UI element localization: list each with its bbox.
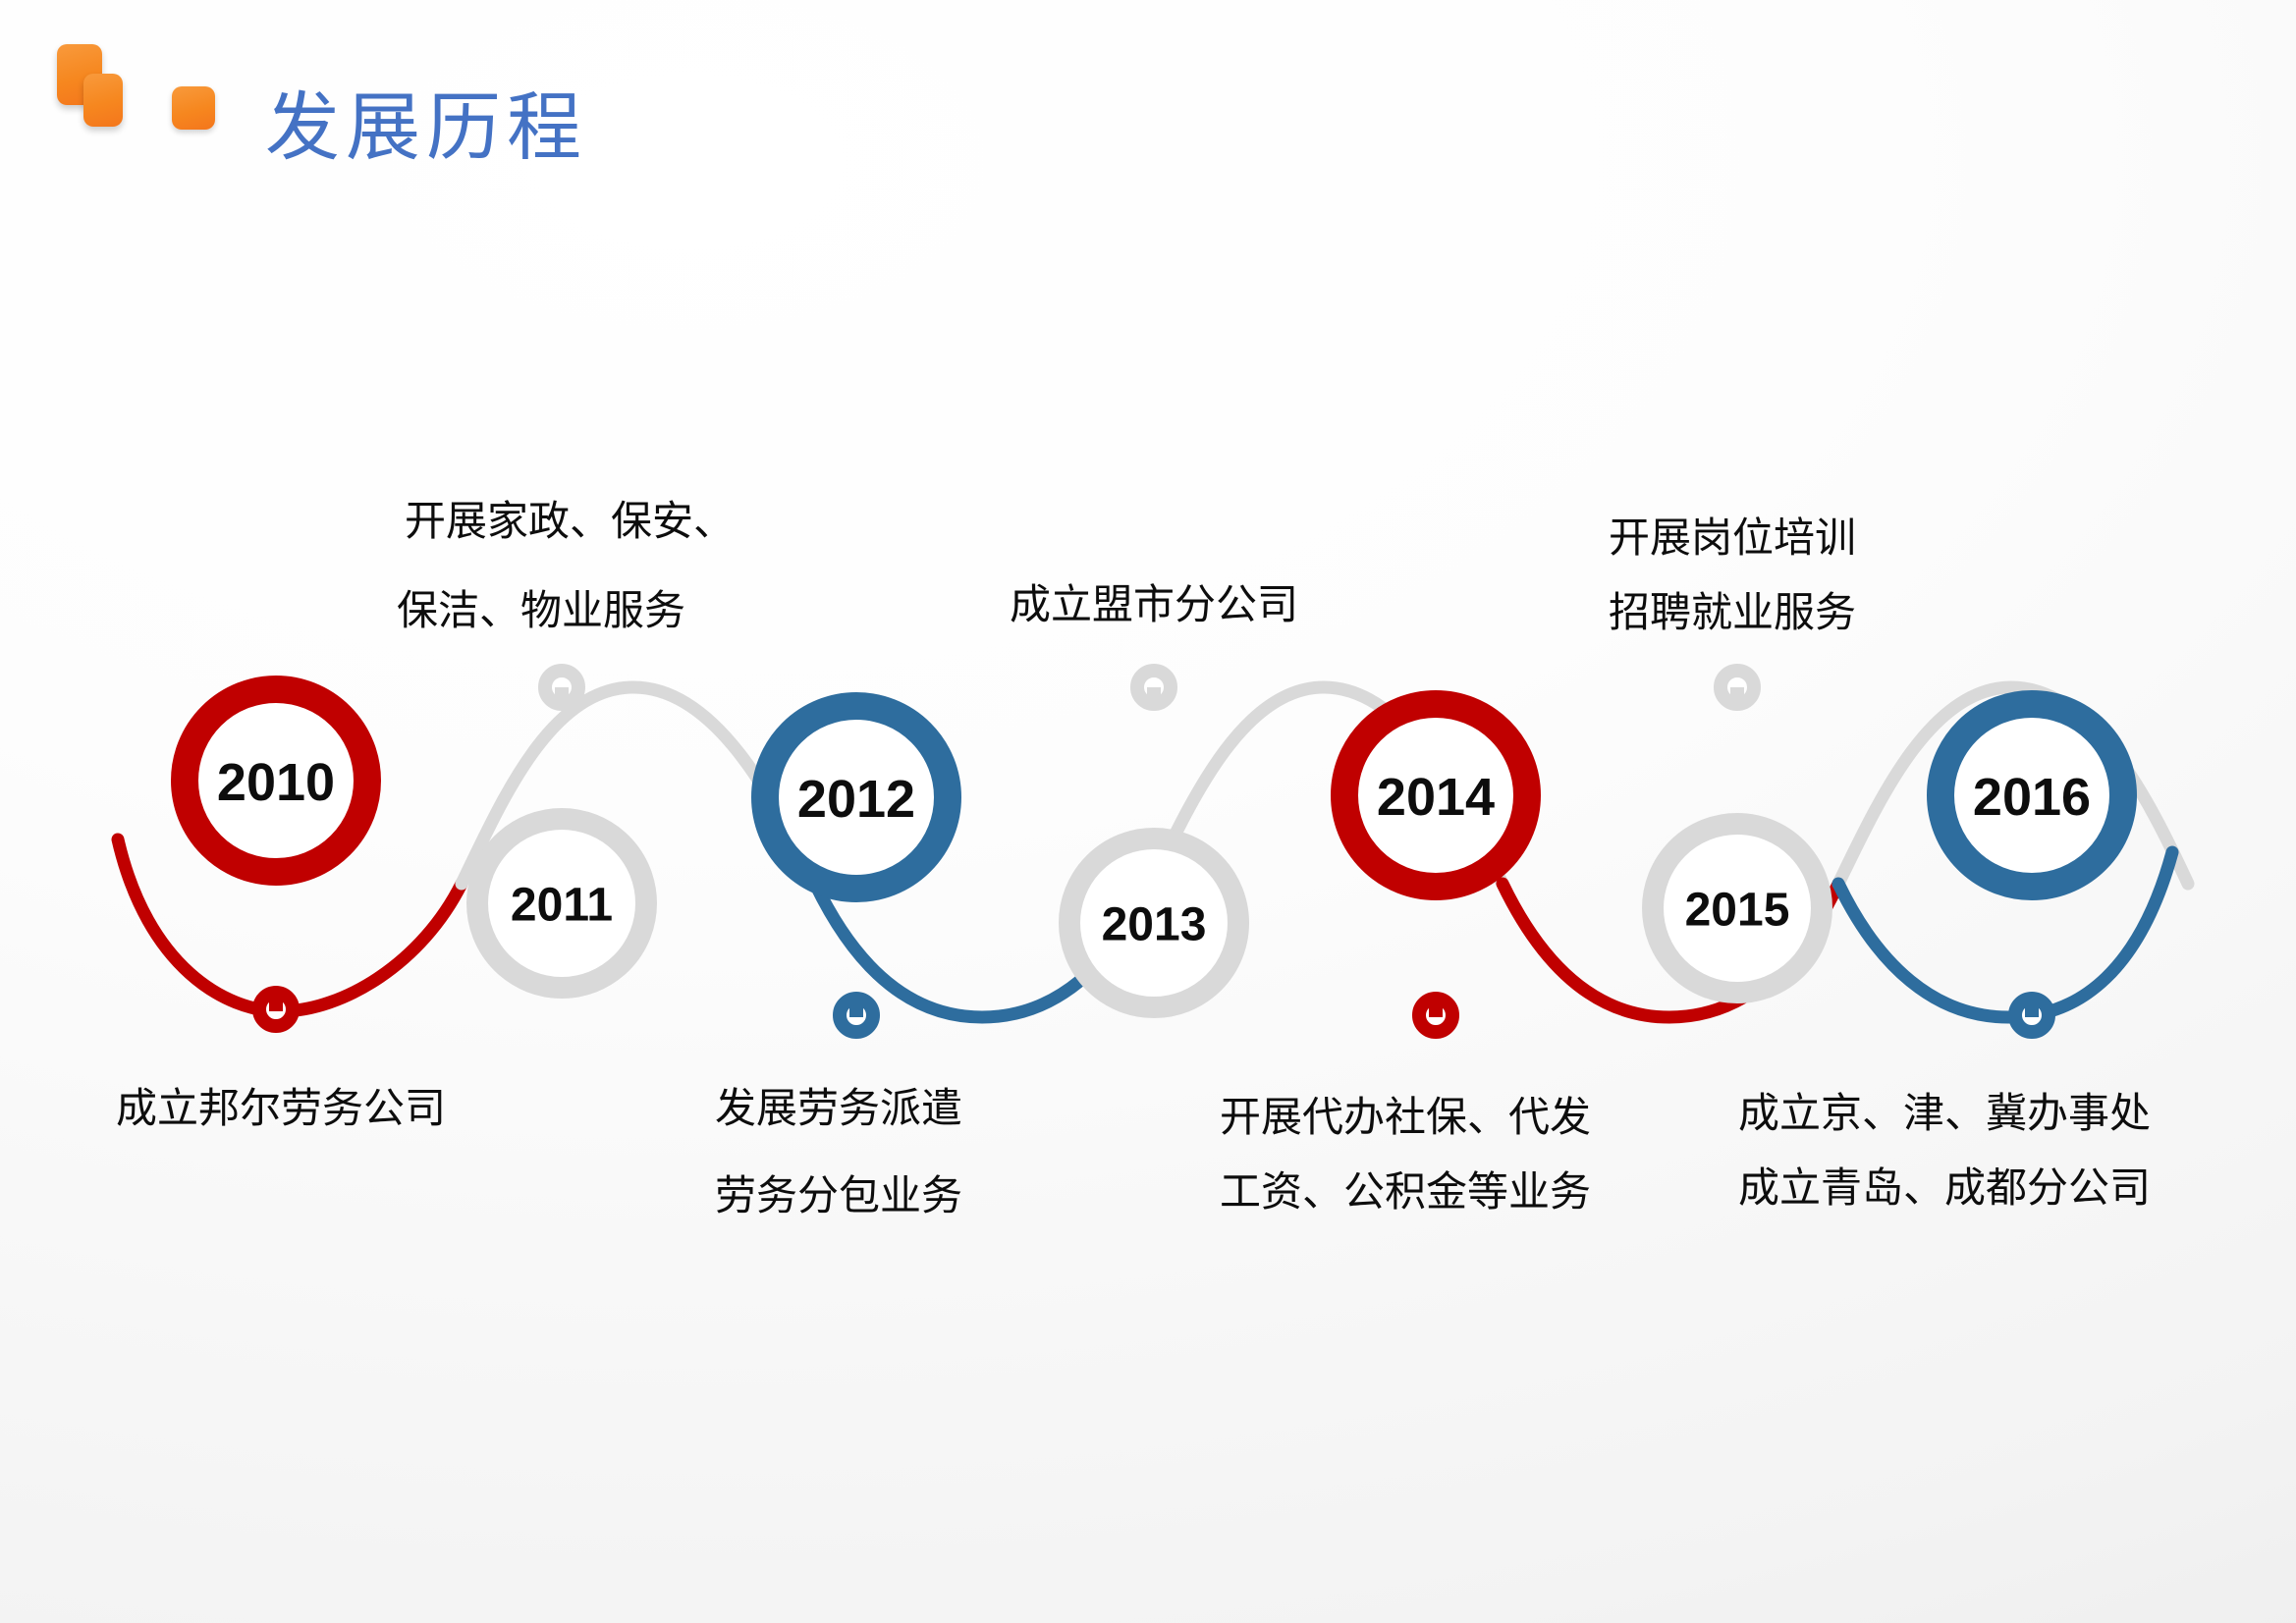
year-label-2016: 2016 — [1973, 768, 2091, 827]
caption-2011-line2: 保洁、物业服务 — [397, 587, 685, 633]
caption-2012-line2: 劳务分包业务 — [715, 1172, 962, 1218]
year-label-2014: 2014 — [1377, 768, 1495, 827]
caption-2014-line1: 开展代办社保、代发 — [1220, 1094, 1591, 1140]
caption-2016-line1: 成立京、津、冀办事处 — [1738, 1090, 2151, 1136]
caption-2011-line1: 开展家政、保安、 — [405, 498, 735, 544]
caption-2016-line2: 成立青岛、成都分公司 — [1738, 1164, 2151, 1211]
slide-canvas: 发展历程 — [0, 0, 2296, 1623]
timeline-diagram: 2010 2011 2012 2013 2014 2015 2016 开展家政、… — [0, 0, 2296, 1623]
year-label-2010: 2010 — [217, 753, 335, 812]
caption-2013-line1: 成立盟市分公司 — [1010, 581, 1298, 627]
caption-2012-line1: 发展劳务派遣 — [715, 1085, 962, 1131]
caption-2010-line1: 成立邦尔劳务公司 — [116, 1085, 446, 1131]
caption-2014-line2: 工资、公积金等业务 — [1220, 1168, 1591, 1215]
caption-2015-line1: 开展岗位培训 — [1609, 514, 1856, 561]
year-label-2012: 2012 — [797, 770, 915, 829]
year-label-2015: 2015 — [1685, 885, 1790, 937]
year-label-2013: 2013 — [1102, 899, 1207, 951]
caption-2015-line2: 招聘就业服务 — [1609, 589, 1856, 635]
year-label-2011: 2011 — [511, 880, 613, 932]
